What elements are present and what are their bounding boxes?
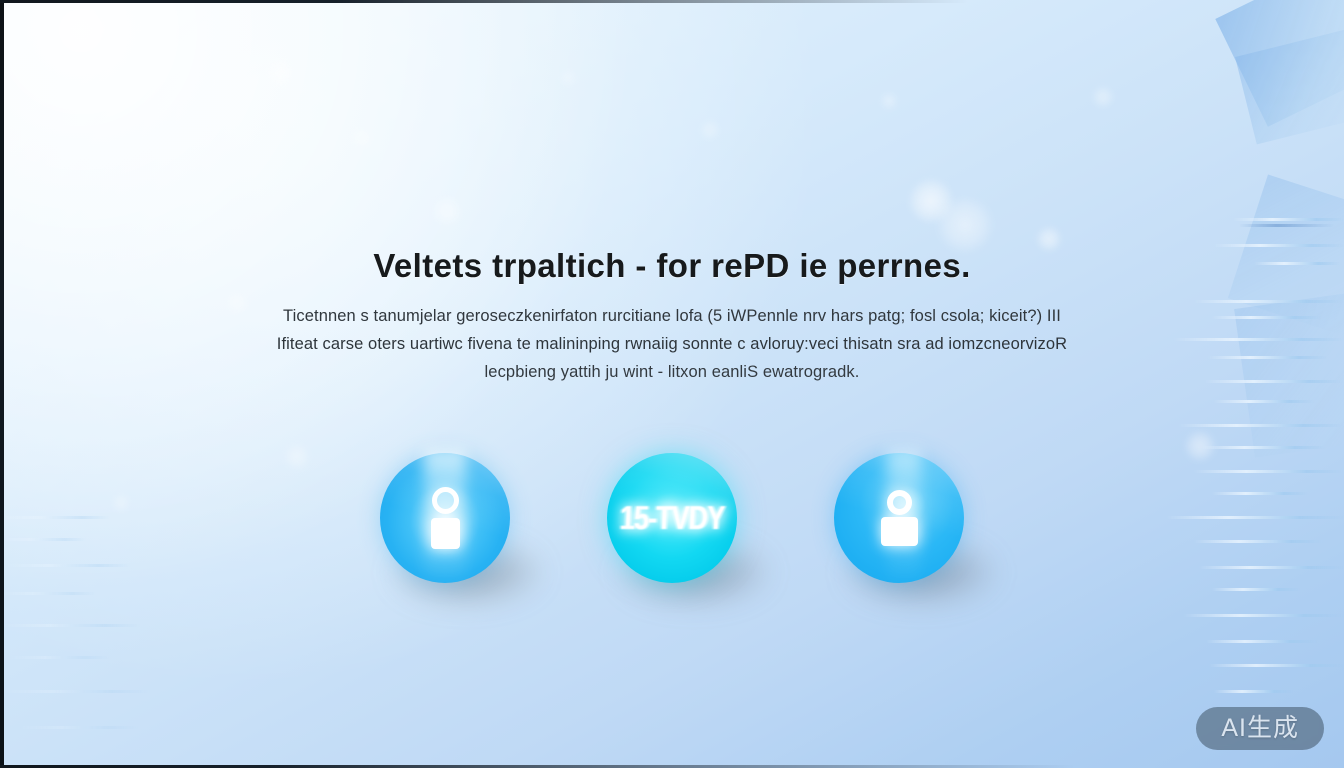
art-line [0,690,150,693]
bokeh-dot [936,196,994,254]
feature-orb-user[interactable] [380,453,510,583]
lock-icon-shackle [887,490,912,515]
ai-generated-watermark: AI生成 [1196,707,1324,750]
frame-edge-left [0,0,4,768]
art-line [1209,664,1344,667]
bokeh-dot [352,128,372,148]
feature-orb-lock[interactable] [834,453,964,583]
feature-icons-row: 15-TVDY [0,453,1344,653]
body-line-3: lecpbieng yattih ju wint - litxon eanliS… [0,358,1344,386]
person-icon-body [431,518,460,549]
bokeh-dot [432,196,462,226]
feature-orb-label[interactable]: 15-TVDY [607,453,737,583]
bokeh-dot [908,178,954,224]
orb-surface [380,453,510,583]
slide-canvas: Veltets trpaltich - for rePD ie perrnes.… [0,0,1344,768]
body-line-1: Ticetnnen s tanumjelar geroseczkenirfato… [0,302,1344,330]
copy-block: Veltets trpaltich - for rePD ie perrnes.… [0,248,1344,386]
bokeh-dot [880,92,898,110]
person-icon-head [432,487,459,514]
art-line [1239,224,1334,227]
art-line [1214,400,1314,403]
orb-surface: 15-TVDY [607,453,737,583]
art-line [10,656,110,659]
art-line [1179,424,1344,427]
page-title: Veltets trpaltich - for rePD ie perrnes. [0,248,1344,284]
bokeh-dot [268,60,294,86]
frame-edge-top [0,0,1344,3]
orb-surface [834,453,964,583]
lock-icon-body [881,517,918,546]
art-line [1214,244,1344,247]
art-line [1214,690,1294,693]
bokeh-dot [1092,86,1114,108]
lock-icon [881,490,918,546]
glitch-text-icon: 15-TVDY [620,503,724,534]
orb-label-text: 15-TVDY [619,499,725,538]
bokeh-dot [560,70,576,86]
person-icon [431,487,460,549]
bokeh-dot [700,120,720,140]
art-line [1234,218,1344,221]
art-line [20,726,138,729]
art-line [1201,446,1326,449]
body-paragraph: Ticetnnen s tanumjelar geroseczkenirfato… [0,302,1344,386]
body-line-2: Ifiteat carse oters uartiwc fivena te ma… [0,330,1344,358]
